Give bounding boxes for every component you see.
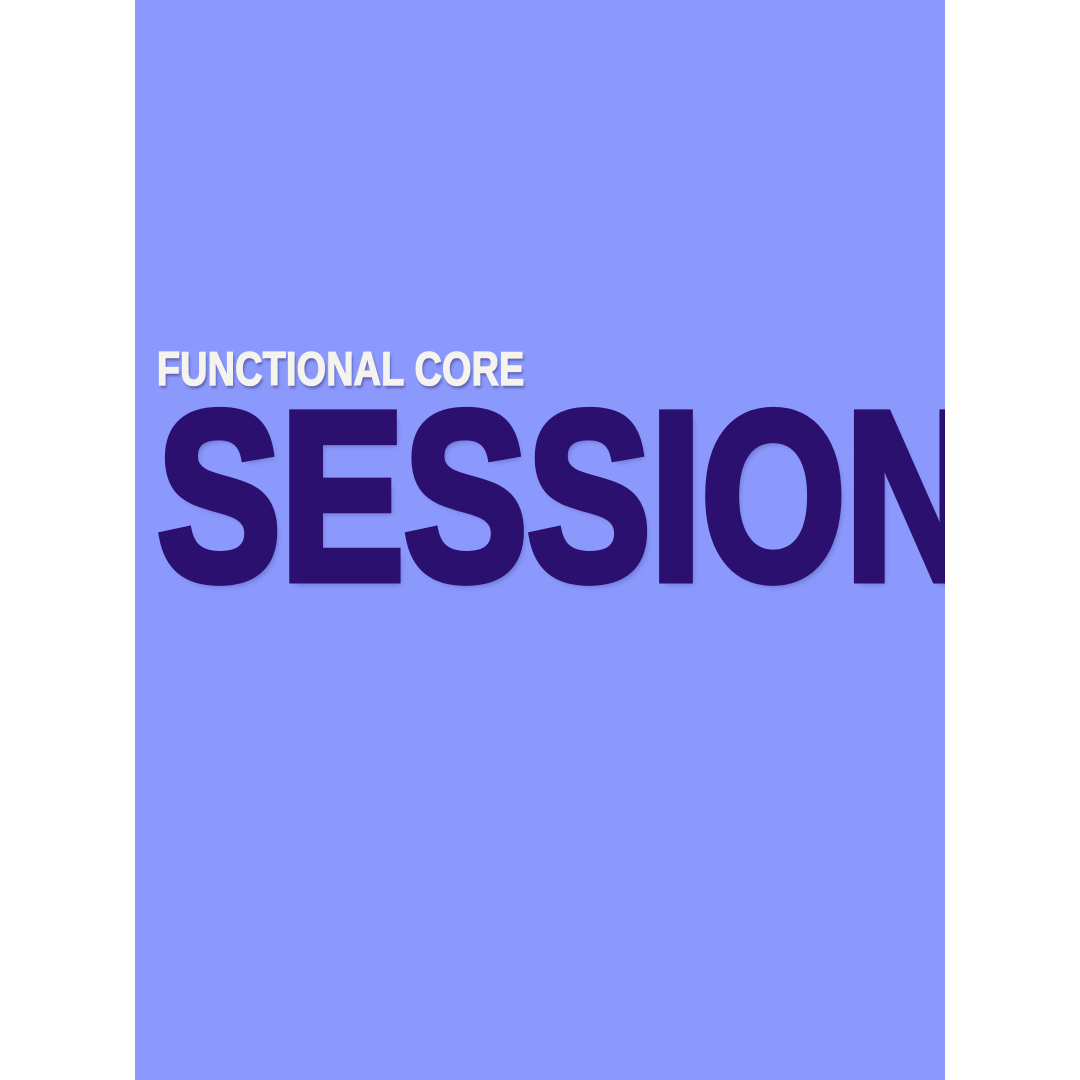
session-headline: SESSION 4 [157,398,754,595]
session-title-card: FUNCTIONAL CORE SESSION 4 [135,0,945,1080]
poster-canvas: FUNCTIONAL CORE SESSION 4 [0,0,1080,1080]
title-block: FUNCTIONAL CORE SESSION 4 [157,345,927,595]
